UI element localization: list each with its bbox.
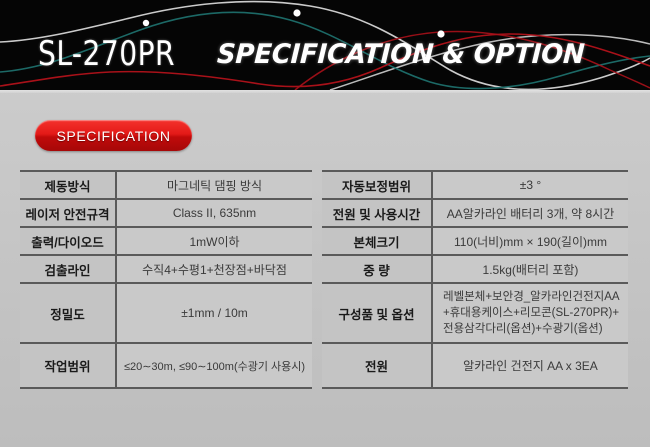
column-gap bbox=[312, 283, 322, 343]
column-gap bbox=[312, 343, 322, 388]
column-gap bbox=[312, 171, 322, 199]
row-value-detection-lines: 수직4+수평1+천장점+바닥점 bbox=[116, 255, 312, 283]
row-value-auto-compensation: ±3 ° bbox=[432, 171, 628, 199]
specification-table: 제동방식 마그네틱 댐핑 방식 자동보정범위 ±3 ° 레이저 안전규격 Cla… bbox=[20, 170, 628, 389]
banner-title-group: SL-270PR SPECIFICATION & OPTION bbox=[0, 0, 650, 90]
row-header-auto-compensation: 자동보정범위 bbox=[322, 171, 432, 199]
row-header-detection-lines: 검출라인 bbox=[20, 255, 116, 283]
table-row: 레이저 안전규격 Class II, 635nm 전원 및 사용시간 AA알카라… bbox=[20, 199, 628, 227]
column-gap bbox=[312, 199, 322, 227]
table-row: 작업범위 ≤20∼30m, ≤90∼100m(수광기 사용시) 전원 알카라인 … bbox=[20, 343, 628, 388]
product-model-name: SL-270PR bbox=[38, 37, 175, 71]
row-header-accuracy: 정밀도 bbox=[20, 283, 116, 343]
components-options-line-1: 레벨본체+보안경_알카라인건전지AA bbox=[443, 289, 624, 305]
row-header-weight: 중 량 bbox=[322, 255, 432, 283]
table-row: 출력/다이오드 1mW이하 본체크기 110(너비)mm × 190(길이)mm bbox=[20, 227, 628, 255]
row-value-accuracy: ±1mm / 10m bbox=[116, 283, 312, 343]
row-value-output-diode: 1mW이하 bbox=[116, 227, 312, 255]
row-value-power-source: 알카라인 건전지 AA x 3EA bbox=[432, 343, 628, 388]
row-header-power-source: 전원 bbox=[322, 343, 432, 388]
banner-heading: SPECIFICATION & OPTION bbox=[216, 41, 585, 68]
row-header-output-diode: 출력/다이오드 bbox=[20, 227, 116, 255]
row-header-braking-type: 제동방식 bbox=[20, 171, 116, 199]
column-gap bbox=[312, 255, 322, 283]
row-header-working-range: 작업범위 bbox=[20, 343, 116, 388]
row-header-power-runtime: 전원 및 사용시간 bbox=[322, 199, 432, 227]
row-value-components-options: 레벨본체+보안경_알카라인건전지AA +휴대용케이스+리모콘(SL-270PR)… bbox=[432, 283, 628, 343]
table-row: 제동방식 마그네틱 댐핑 방식 자동보정범위 ±3 ° bbox=[20, 171, 628, 199]
components-options-line-2: +휴대용케이스+리모콘(SL-270PR)+ bbox=[443, 305, 624, 321]
product-spec-page: SL-270PR SPECIFICATION & OPTION SPECIFIC… bbox=[0, 0, 650, 447]
row-value-laser-safety: Class II, 635nm bbox=[116, 199, 312, 227]
row-value-braking-type: 마그네틱 댐핑 방식 bbox=[116, 171, 312, 199]
components-options-line-3: 전용삼각다리(옵션)+수광기(옵션) bbox=[443, 321, 624, 337]
specification-badge-label: SPECIFICATION bbox=[56, 128, 170, 144]
row-header-laser-safety: 레이저 안전규격 bbox=[20, 199, 116, 227]
row-header-components-options: 구성품 및 옵션 bbox=[322, 283, 432, 343]
header-banner: SL-270PR SPECIFICATION & OPTION bbox=[0, 0, 650, 90]
row-value-power-runtime: AA알카라인 배터리 3개, 약 8시간 bbox=[432, 199, 628, 227]
table-row: 검출라인 수직4+수평1+천장점+바닥점 중 량 1.5kg(배터리 포함) bbox=[20, 255, 628, 283]
row-value-weight: 1.5kg(배터리 포함) bbox=[432, 255, 628, 283]
row-value-body-size: 110(너비)mm × 190(길이)mm bbox=[432, 227, 628, 255]
row-header-body-size: 본체크기 bbox=[322, 227, 432, 255]
row-value-working-range: ≤20∼30m, ≤90∼100m(수광기 사용시) bbox=[116, 343, 312, 388]
specification-badge: SPECIFICATION bbox=[35, 120, 192, 151]
banner-underline bbox=[0, 90, 650, 93]
column-gap bbox=[312, 227, 322, 255]
table-row: 정밀도 ±1mm / 10m 구성품 및 옵션 레벨본체+보안경_알카라인건전지… bbox=[20, 283, 628, 343]
